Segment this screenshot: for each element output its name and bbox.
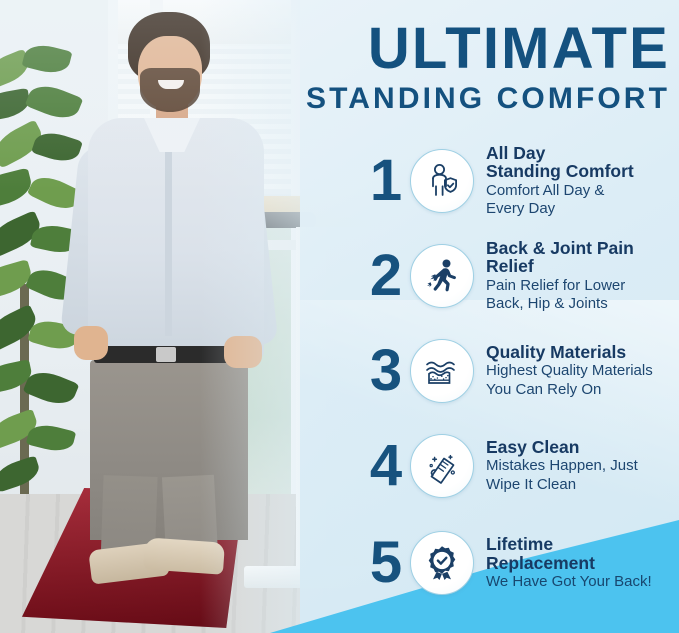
foam-layer-cushion-icon [410, 339, 474, 403]
award-badge-check-ribbon-icon [410, 531, 474, 595]
feature-number-5: 5 [364, 534, 408, 592]
feature-sub-line2: Wipe It Clean [486, 477, 679, 494]
feature-sub-line2: You Can Rely On [486, 382, 679, 399]
feature-number-2: 2 [364, 247, 408, 305]
feature-row-3: 3 Quality Materials [364, 323, 679, 418]
feature-row-1: 1 All Day Standing Comfort Comfort All D… [364, 133, 679, 228]
feature-number-1: 1 [364, 152, 408, 210]
feature-list: 1 All Day Standing Comfort Comfort All D… [364, 133, 679, 613]
feature-text-4: Easy Clean Mistakes Happen, Just Wipe It… [486, 438, 679, 494]
feature-title-line2: Replacement [486, 554, 679, 573]
headline-secondary: STANDING COMFORT [298, 82, 670, 116]
feature-sub-line2: Back, Hip & Joints [486, 296, 679, 313]
feature-row-4: 4 Easy Clean Mistakes Happen, Just [364, 418, 679, 513]
feature-number-4: 4 [364, 437, 408, 495]
feature-sub-line1: Mistakes Happen, Just [486, 458, 679, 475]
feature-row-2: 2 Back & Joint Pain Relief Pain Relief f… [364, 228, 679, 323]
feature-title-line1: Quality Materials [486, 343, 679, 362]
feature-sub-line1: Pain Relief for Lower [486, 278, 679, 295]
feature-title-line1: Back & Joint Pain [486, 239, 679, 258]
feature-sub-line1: We Have Got Your Back! [486, 574, 679, 591]
feature-row-5: 5 Lifetime Replacement We Have Got Your … [364, 513, 679, 613]
feature-text-2: Back & Joint Pain Relief Pain Relief for… [486, 239, 679, 313]
feature-text-3: Quality Materials Highest Quality Materi… [486, 343, 679, 399]
feature-text-1: All Day Standing Comfort Comfort All Day… [486, 144, 679, 218]
headline-primary: ULTIMATE [298, 22, 670, 76]
feature-title-line1: All Day [486, 144, 679, 163]
person-shield-check-icon [410, 149, 474, 213]
hand-wiping-cloth-sparkle-icon [410, 434, 474, 498]
feature-sub-line2: Every Day [486, 201, 679, 218]
headline: ULTIMATE STANDING COMFORT [298, 22, 670, 116]
feature-title-line1: Lifetime [486, 535, 679, 554]
feature-sub-line1: Highest Quality Materials [486, 363, 679, 380]
feature-text-5: Lifetime Replacement We Have Got Your Ba… [486, 535, 679, 591]
infographic-canvas: ULTIMATE STANDING COMFORT 1 All Day Stan… [0, 0, 679, 633]
feature-title-line2: Standing Comfort [486, 162, 679, 181]
feature-title-line2: Relief [486, 257, 679, 276]
feature-sub-line1: Comfort All Day & [486, 183, 679, 200]
person-back-pain-relief-icon [410, 244, 474, 308]
feature-title-line1: Easy Clean [486, 438, 679, 457]
feature-number-3: 3 [364, 342, 408, 400]
